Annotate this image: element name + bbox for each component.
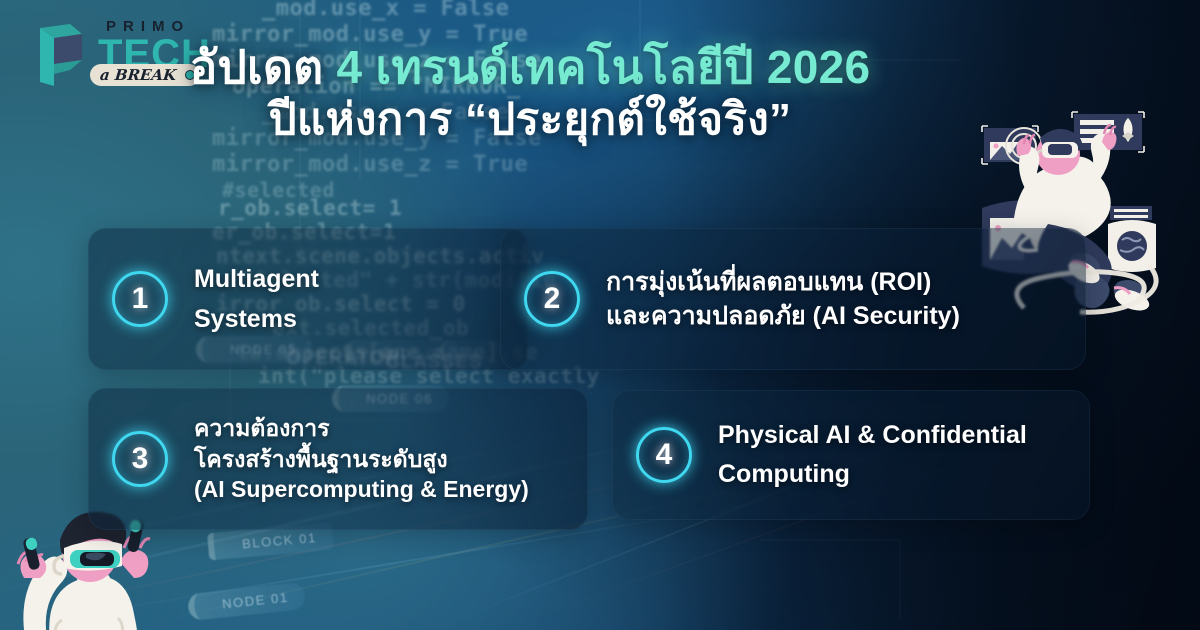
trend-text-1-line-2: Systems — [194, 299, 319, 340]
trend-text-3-line-2: โครงสร้างพื้นฐานระดับสูง — [194, 444, 529, 474]
trend-card-1[interactable]: 1 Multiagent Systems — [88, 228, 528, 370]
trend-text-3: ความต้องการ โครงสร้างพื้นฐานระดับสูง (AI… — [194, 413, 529, 504]
trend-text-3-line-1: ความต้องการ — [194, 413, 529, 443]
title-line-2: ปีแห่งการ “ประยุกต์ใช้จริง” — [0, 94, 1060, 146]
trend-text-2: การมุ่งเน้นที่ผลตอบแทน (ROI) และความปลอด… — [606, 265, 960, 334]
trend-number-badge-4: 4 — [636, 427, 692, 483]
trend-text-4-line-2: Computing — [718, 455, 1027, 494]
trend-card-4[interactable]: 4 Physical AI & Confidential Computing — [612, 390, 1090, 520]
trend-text-3-line-3: (AI Supercomputing & Energy) — [194, 474, 529, 504]
trend-number-badge-2: 2 — [524, 271, 580, 327]
trend-number-4: 4 — [656, 440, 673, 470]
title-line-1-white: อัปเดต — [190, 41, 337, 93]
trend-text-1: Multiagent Systems — [194, 259, 319, 340]
trend-number-badge-1: 1 — [112, 271, 168, 327]
trend-card-2[interactable]: 2 การมุ่งเน้นที่ผลตอบแทน (ROI) และความปล… — [500, 228, 1086, 370]
title-line-1-accent: 4 เทรนด์เทคโนโลยีปี 2026 — [337, 41, 871, 93]
trend-text-2-line-2: และความปลอดภัย (AI Security) — [606, 299, 960, 334]
trend-text-2-line-1: การมุ่งเน้นที่ผลตอบแทน (ROI) — [606, 265, 960, 300]
trend-text-4-line-1: Physical AI & Confidential — [718, 416, 1027, 455]
trend-number-2: 2 — [544, 284, 561, 314]
title-block: อัปเดต 4 เทรนด์เทคโนโลยีปี 2026 ปีแห่งกา… — [0, 40, 1060, 146]
trend-card-3[interactable]: 3 ความต้องการ โครงสร้างพื้นฐานระดับสูง (… — [88, 388, 588, 530]
trend-number-3: 3 — [132, 444, 149, 474]
trend-text-4: Physical AI & Confidential Computing — [718, 416, 1027, 494]
trend-text-1-line-1: Multiagent — [194, 259, 319, 300]
trend-number-badge-3: 3 — [112, 431, 168, 487]
trend-number-1: 1 — [132, 284, 149, 314]
infographic-canvas: _mod.use_x = False mirror_mod.use_y = Tr… — [0, 0, 1200, 630]
title-line-1: อัปเดต 4 เทรนด์เทคโนโลยีปี 2026 — [0, 40, 1060, 94]
ui-panel-globe — [1108, 206, 1156, 272]
